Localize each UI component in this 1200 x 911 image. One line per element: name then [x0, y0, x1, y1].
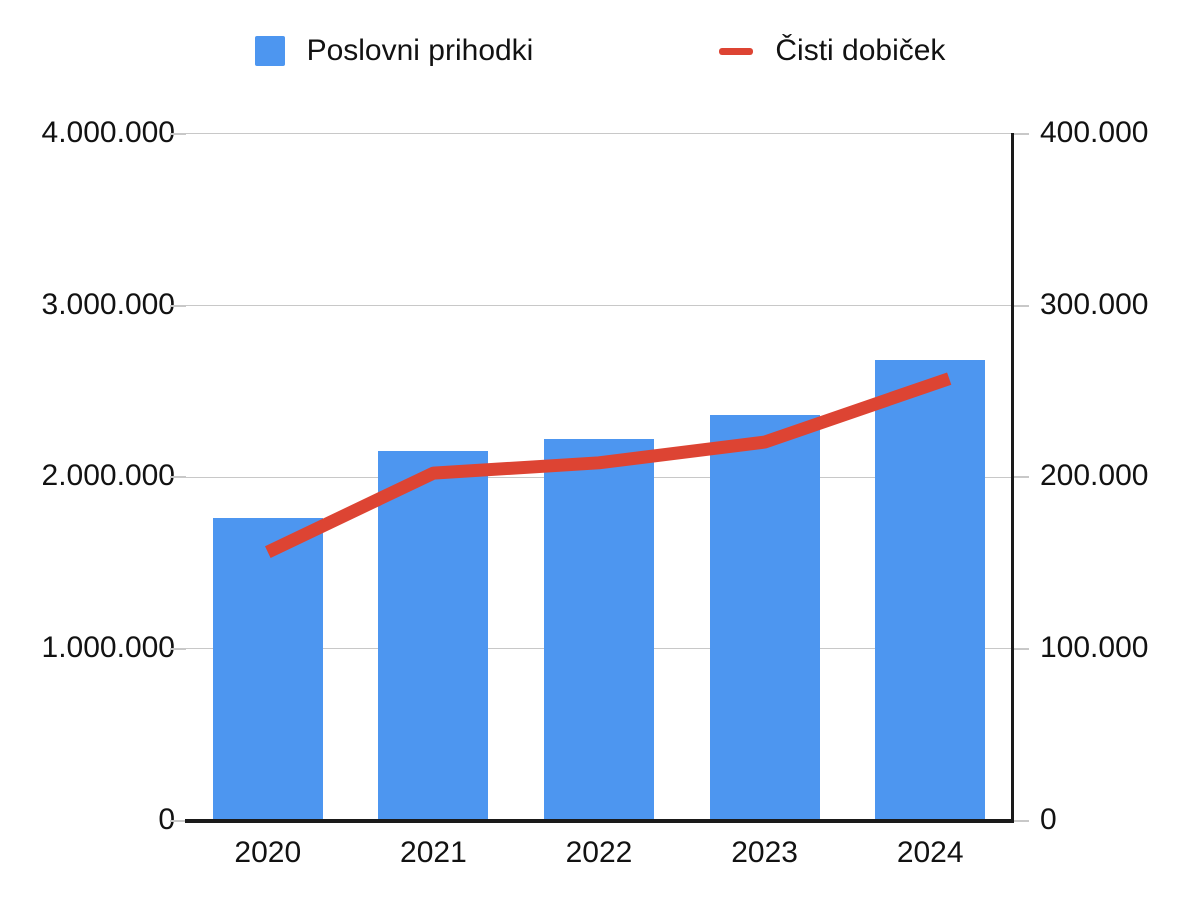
left-axis-tick-mark — [170, 305, 186, 307]
right-axis-tick-mark — [1013, 648, 1029, 650]
x-axis-tick-label-2020: 2020 — [213, 835, 323, 871]
right-axis-tick-label: 400.000 — [1040, 118, 1200, 148]
x-axis-line — [185, 819, 1013, 823]
x-axis-tick-label-2024: 2024 — [875, 835, 985, 871]
x-axis-tick-label-2021: 2021 — [378, 835, 488, 871]
left-axis-tick-label: 3.000.000 — [15, 290, 175, 320]
legend-item-label: Čisti dobiček — [775, 36, 945, 66]
right-axis-tick-label: 100.000 — [1040, 633, 1200, 663]
right-axis-tick-label: 300.000 — [1040, 290, 1200, 320]
x-axis-tick-label-2022: 2022 — [544, 835, 654, 871]
left-axis-tick-mark — [170, 133, 186, 135]
legend-item-label: Poslovni prihodki — [307, 36, 534, 66]
left-axis-tick-mark — [170, 648, 186, 650]
chart-legend: Poslovni prihodki Čisti dobiček — [0, 18, 1200, 84]
right-axis-tick-label: 0 — [1040, 805, 1200, 835]
left-axis-tick-label: 4.000.000 — [15, 118, 175, 148]
plot-area — [185, 133, 1013, 820]
legend-item-poslovni-prihodki[interactable]: Poslovni prihodki — [255, 36, 534, 66]
right-axis-tick-mark — [1013, 305, 1029, 307]
left-axis-tick-label: 1.000.000 — [15, 633, 175, 663]
x-axis-tick-label-2023: 2023 — [710, 835, 820, 871]
left-axis-tick-mark — [170, 820, 186, 822]
right-y-axis-line — [1011, 133, 1014, 823]
line-swatch-icon — [719, 48, 753, 55]
right-axis-tick-mark — [1013, 476, 1029, 478]
line-series-cisti-dobicek — [185, 133, 1013, 820]
legend-item-cisti-dobicek[interactable]: Čisti dobiček — [719, 36, 945, 66]
chart-container: Poslovni prihodki Čisti dobiček 4.000.00… — [0, 0, 1200, 911]
right-axis-tick-mark — [1013, 133, 1029, 135]
left-axis-tick-mark — [170, 476, 186, 478]
right-axis-tick-mark — [1013, 820, 1029, 822]
right-axis-tick-label: 200.000 — [1040, 461, 1200, 491]
left-axis-tick-label: 0 — [15, 805, 175, 835]
line-path-cisti-dobicek[interactable] — [268, 379, 949, 552]
bar-swatch-icon — [255, 36, 285, 66]
x-axis-labels: 2020 2021 2022 2023 2024 — [185, 835, 1013, 877]
left-axis-tick-label: 2.000.000 — [15, 461, 175, 491]
